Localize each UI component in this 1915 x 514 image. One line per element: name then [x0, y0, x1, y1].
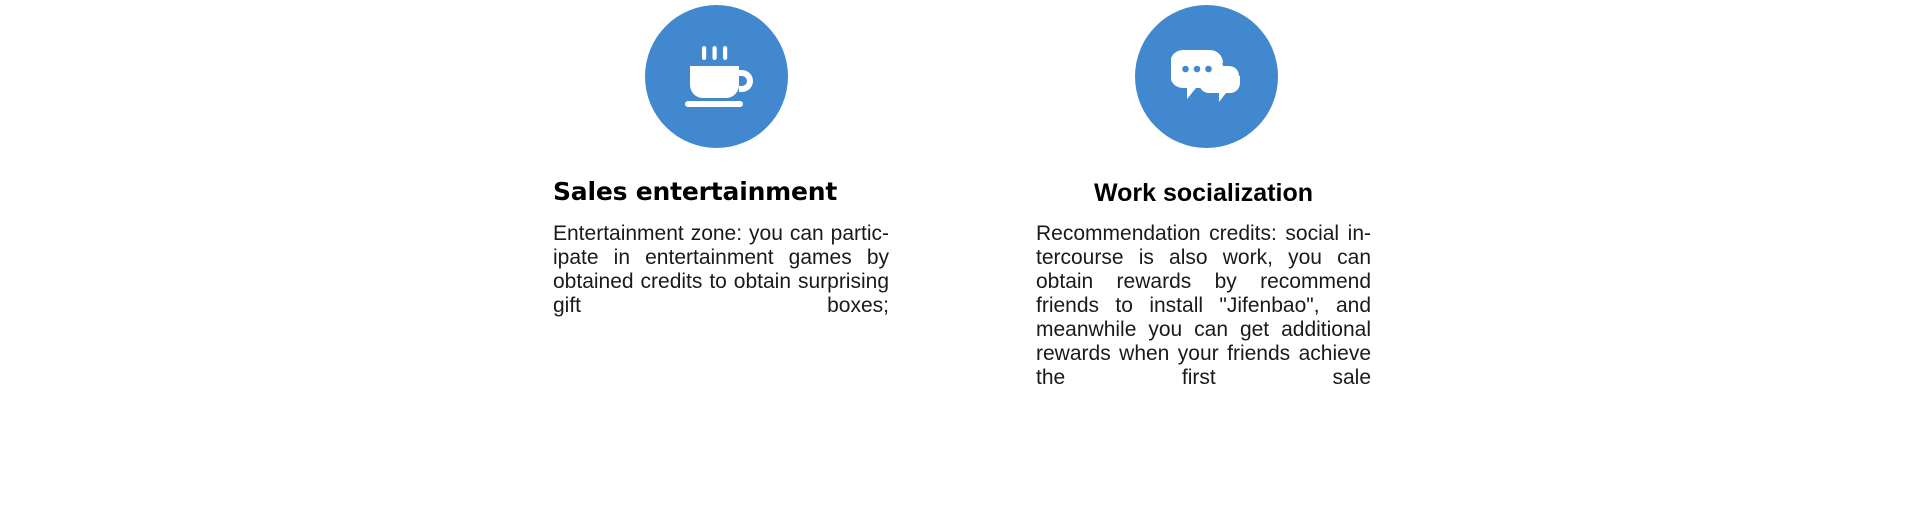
coffee-cup-icon-badge [645, 5, 788, 148]
feature-description: Entertainment zone: you can partic­ipate… [553, 222, 889, 342]
chat-bubbles-icon [1171, 46, 1243, 108]
feature-title: Work socialization [1036, 178, 1371, 208]
feature-section: Sales entertainment Entertainment zone: … [0, 0, 1915, 514]
coffee-cup-icon [681, 46, 753, 108]
feature-title: Sales entertainment [553, 177, 889, 207]
chat-bubbles-icon-badge [1135, 5, 1278, 148]
feature-description: Recommendation credits: social in­tercou… [1036, 222, 1371, 414]
